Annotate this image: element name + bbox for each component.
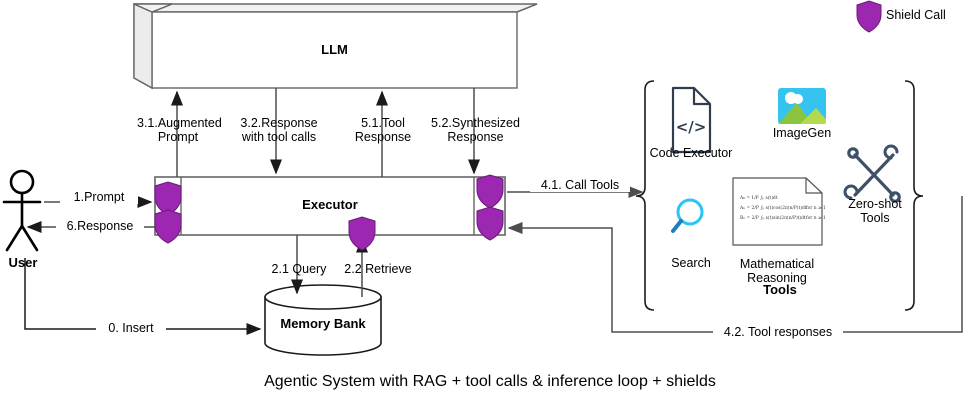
- edge-label-2-1-query: 2.1 Query: [263, 262, 335, 276]
- edge-label-2-2-retrieve: 2.2 Retrieve: [334, 262, 422, 276]
- edge-label-4-1-call-tools: 4.1. Call Tools: [530, 178, 630, 192]
- tool-label-math-reasoning: Mathematical Reasoning: [727, 257, 827, 285]
- shield-icon: [349, 217, 375, 250]
- diagram-caption: Agentic System with RAG + tool calls & i…: [185, 375, 795, 389]
- edge-label-5-2: 5.2.Synthesized Response: [428, 116, 523, 144]
- tool-label-zero-shot: Zero-shot Tools: [838, 197, 912, 225]
- edge-label-6-response: 6.Response: [56, 219, 144, 233]
- edge-label-4-2-tool-responses: 4.2. Tool responses: [713, 325, 843, 339]
- edge-label-1-prompt: 1.Prompt: [60, 190, 138, 204]
- tool-label-imagegen: ImageGen: [764, 126, 840, 140]
- memory-bank-label: Memory Bank: [273, 317, 373, 331]
- crossed-wrenches-icon: [845, 146, 899, 201]
- edge-label-5-1: 5.1.Tool Response: [344, 116, 422, 144]
- diagram-canvas: </> A₀ = 1/P ∫ₚ s(t)dt Aₙ = 2/P ∫ₚ s(t)c…: [0, 0, 970, 411]
- svg-text:A₀ = 1/P ∫ₚ s(t)dt: A₀ = 1/P ∫ₚ s(t)dt: [739, 195, 778, 201]
- legend-label: Shield Call: [886, 8, 966, 22]
- tools-group-label: Tools: [740, 283, 820, 297]
- edge-label-0-insert: 0. Insert: [96, 321, 166, 335]
- edge-label-3-1: 3.1.Augmented Prompt: [137, 116, 219, 144]
- llm-label: LLM: [222, 43, 447, 57]
- edge-label-3-2: 3.2.Response with tool calls: [233, 116, 325, 144]
- formula-document-icon: A₀ = 1/P ∫ₚ s(t)dt Aₙ = 2/P ∫ₚ s(t)cos(2…: [733, 178, 826, 245]
- user-actor: [4, 171, 40, 250]
- svg-text:</>: </>: [676, 118, 707, 136]
- code-document-icon: </>: [673, 88, 710, 152]
- svg-text:for n ≥ 1: for n ≥ 1: [806, 216, 826, 221]
- svg-text:Aₙ = 2/P ∫ₚ s(t)cos(2π(n/P)t)d: Aₙ = 2/P ∫ₚ s(t)cos(2π(n/P)t)dt: [739, 205, 807, 211]
- shield-icon-legend: [857, 1, 881, 32]
- executor-label: Executor: [275, 198, 385, 212]
- tool-label-code-executor: Code Executor: [646, 146, 736, 160]
- edge-0-insert: [25, 258, 260, 329]
- magnifier-icon: [673, 200, 702, 231]
- tool-label-search: Search: [662, 256, 720, 270]
- svg-text:for n ≥ 1: for n ≥ 1: [806, 206, 826, 211]
- svg-text:Bₙ = 2/P ∫ₚ s(t)sin(2π(n/P)t)d: Bₙ = 2/P ∫ₚ s(t)sin(2π(n/P)t)dt: [740, 215, 806, 221]
- shield-icon: [155, 210, 181, 243]
- image-picture-icon: [778, 88, 830, 124]
- user-label: User: [0, 256, 46, 270]
